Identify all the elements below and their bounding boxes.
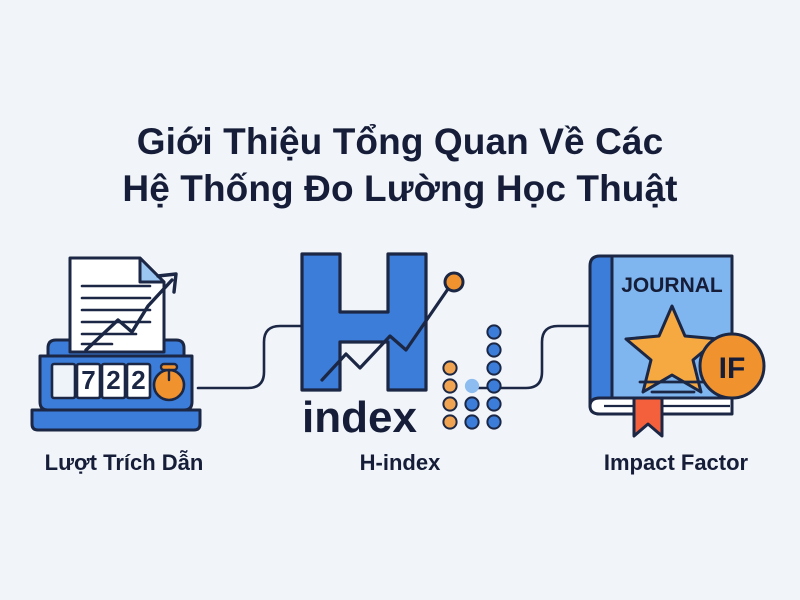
- counter-digit-3: 2: [131, 365, 145, 395]
- impact-factor-badge-label: IF: [719, 352, 746, 385]
- metric-impact-factor[interactable]: JOURNAL IF: [560, 240, 792, 500]
- citation-counter-icon: 7 2 2: [8, 240, 240, 440]
- metric-label-hindex: H-index: [284, 450, 516, 476]
- metric-label-citations: Lượt Trích Dẫn: [8, 450, 240, 476]
- bookmark-icon: [634, 398, 662, 436]
- page-title-line-1: Giới Thiệu Tổng Quan Về Các: [0, 118, 800, 165]
- counter-digit-2: 2: [106, 365, 120, 395]
- journal-impact-factor-icon: JOURNAL IF: [560, 240, 792, 440]
- metric-hindex[interactable]: index: [284, 240, 516, 500]
- metrics-row: 7 2 2 Lượt Trích Dẫn: [0, 240, 800, 500]
- dot-matrix: [443, 325, 500, 428]
- counter-digit-1: 7: [81, 365, 95, 395]
- metric-citations[interactable]: 7 2 2 Lượt Trích Dẫn: [8, 240, 240, 500]
- page-title: Giới Thiệu Tổng Quan Về Các Hệ Thống Đo …: [0, 118, 800, 213]
- index-word: index: [302, 393, 417, 442]
- h-letter: [302, 254, 426, 390]
- infographic-canvas: Giới Thiệu Tổng Quan Về Các Hệ Thống Đo …: [0, 0, 800, 600]
- page-title-line-2: Hệ Thống Đo Lường Học Thuật: [0, 165, 800, 212]
- book-title-text: JOURNAL: [621, 274, 723, 297]
- h-index-icon: index: [284, 240, 516, 440]
- metric-label-impact: Impact Factor: [560, 450, 792, 476]
